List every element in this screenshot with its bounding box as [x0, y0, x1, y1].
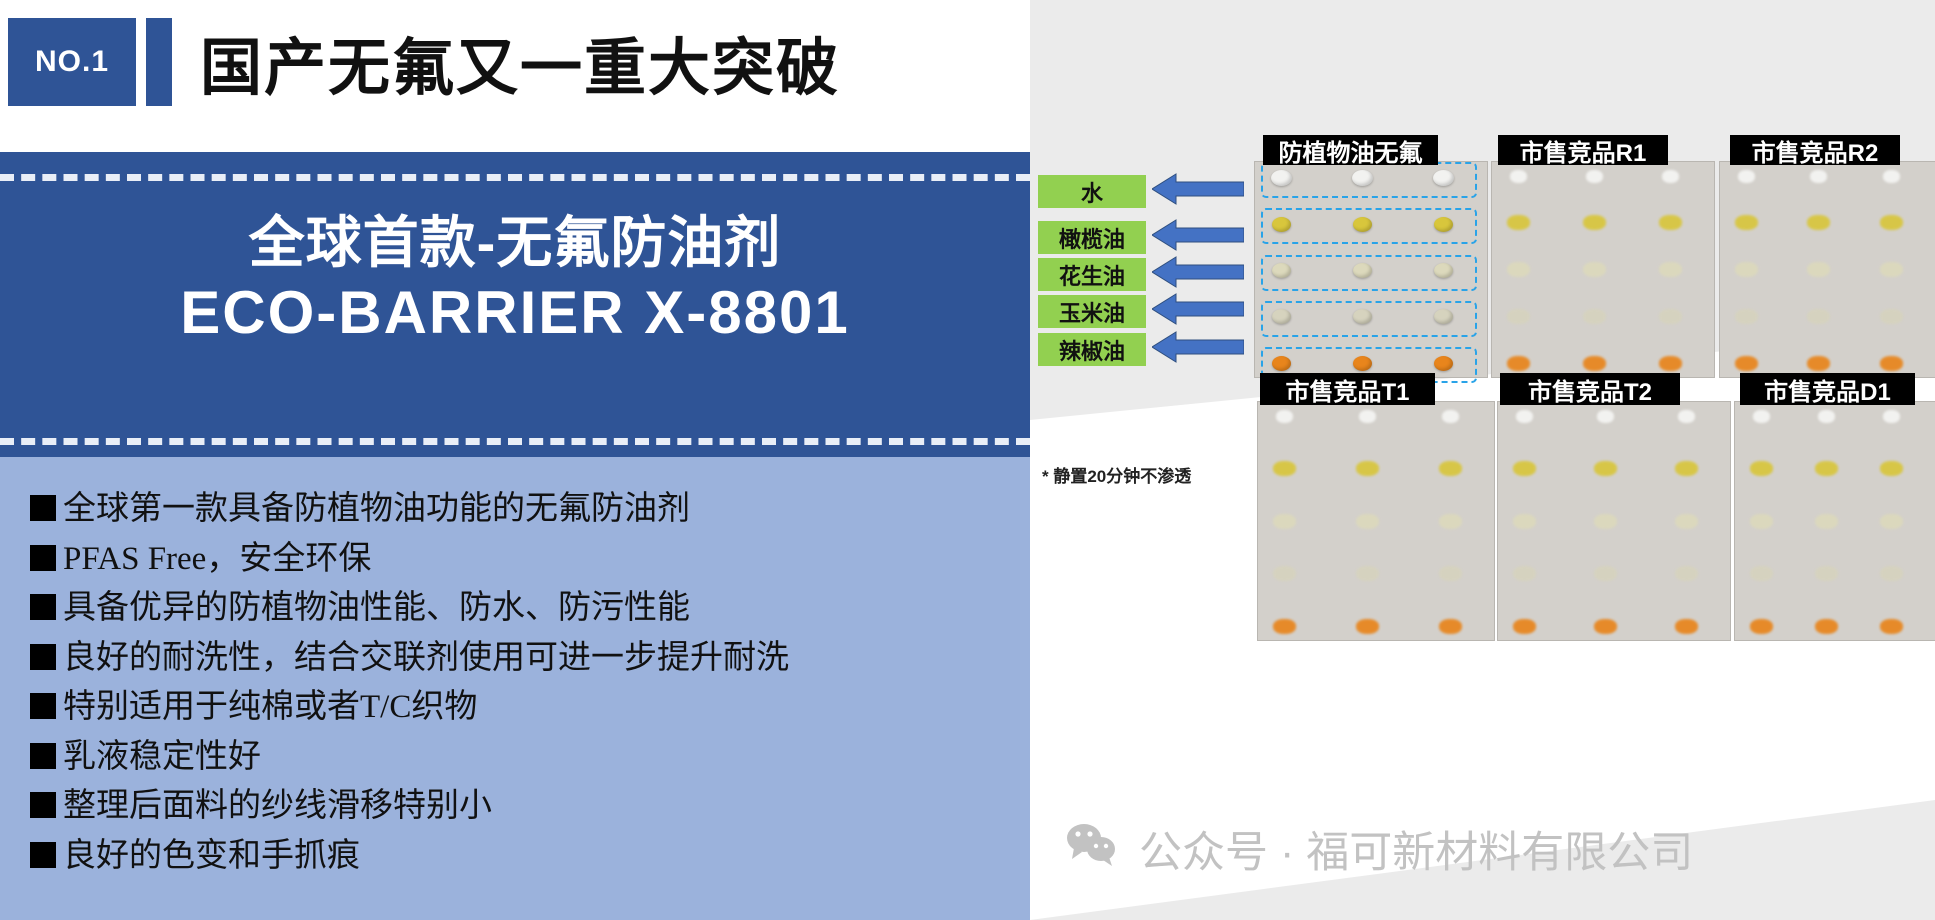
- droplet-swatch: [1883, 410, 1900, 423]
- feature-item: 良好的色变和手抓痕: [30, 834, 1030, 879]
- board-d1: [1735, 402, 1935, 640]
- droplet-swatch: [1880, 461, 1903, 476]
- feature-item-label: 整理后面料的纱线滑移特别小: [63, 784, 492, 829]
- watermark: 公众号 · 福可新材料有限公司: [1065, 818, 1693, 880]
- bullet-square-icon: [30, 644, 56, 670]
- droplet-swatch: [1807, 309, 1830, 324]
- board-d1-title: 市售竞品D1: [1740, 373, 1915, 405]
- feature-item: 良好的耐洗性，结合交联剂使用可进一步提升耐洗: [30, 636, 1030, 681]
- wechat-icon: [1065, 821, 1121, 878]
- feature-item-label: 良好的色变和手抓痕: [63, 834, 360, 879]
- droplet-swatch: [1586, 170, 1603, 183]
- feature-item-label: 特别适用于纯棉或者T/C织物: [63, 685, 477, 730]
- droplet-swatch: [1807, 215, 1830, 230]
- bullet-square-icon: [30, 693, 56, 719]
- droplet-swatch: [1750, 619, 1773, 634]
- feature-item: 乳液稳定性好: [30, 735, 1030, 780]
- droplet-swatch: [1594, 619, 1617, 634]
- droplet-swatch: [1594, 566, 1617, 581]
- left-arrow-icon: [1152, 292, 1244, 331]
- droplet-swatch: [1738, 170, 1755, 183]
- droplet-swatch: [1583, 356, 1606, 371]
- droplet-swatch: [1807, 262, 1830, 277]
- legend-chip: 水: [1038, 175, 1146, 208]
- droplet-swatch: [1513, 514, 1536, 529]
- feature-item-label: PFAS Free，安全环保: [63, 537, 371, 582]
- droplet-swatch: [1735, 215, 1758, 230]
- banner-text: 全球首款-无氟防油剂 ECO-BARRIER X-8801: [0, 210, 1030, 346]
- watermark-text: 公众号 · 福可新材料有限公司: [1139, 818, 1693, 880]
- slide-header: NO.1 国产无氟又一重大突破: [0, 0, 1030, 150]
- left-arrow-icon: [1152, 172, 1244, 211]
- droplet-swatch: [1516, 410, 1533, 423]
- droplet-swatch: [1513, 566, 1536, 581]
- board-r1-title: 市售竞品R1: [1498, 135, 1668, 165]
- board-main-title: 防植物油无氟: [1263, 135, 1438, 165]
- droplet-swatch: [1750, 514, 1773, 529]
- droplet-swatch: [1815, 619, 1838, 634]
- legend-chip: 玉米油: [1038, 295, 1146, 328]
- droplet-swatch: [1678, 410, 1695, 423]
- droplet-swatch: [1880, 262, 1903, 277]
- droplet-swatch: [1356, 461, 1379, 476]
- feature-item: PFAS Free，安全环保: [30, 537, 1030, 582]
- bullet-square-icon: [30, 594, 56, 620]
- droplet-swatch: [1510, 170, 1527, 183]
- droplet-swatch: [1659, 309, 1682, 324]
- bullet-square-icon: [30, 545, 56, 571]
- droplet-swatch: [1880, 215, 1903, 230]
- droplet-swatch: [1507, 215, 1530, 230]
- slide-root: NO.1 国产无氟又一重大突破 全球首款-无氟防油剂 ECO-BARRIER X…: [0, 0, 1935, 920]
- droplet-swatch: [1750, 566, 1773, 581]
- badge-accent-bar: [146, 18, 172, 106]
- droplet-swatch: [1815, 514, 1838, 529]
- left-panel: NO.1 国产无氟又一重大突破 全球首款-无氟防油剂 ECO-BARRIER X…: [0, 0, 1030, 920]
- board-r1: [1492, 162, 1714, 377]
- legend-row-3: 玉米油: [1038, 292, 1244, 331]
- droplet-swatch: [1662, 170, 1679, 183]
- feature-item: 全球第一款具备防植物油功能的无氟防油剂: [30, 487, 1030, 532]
- board-main: [1255, 162, 1487, 377]
- droplet-swatch: [1735, 356, 1758, 371]
- legend-row-2: 花生油: [1038, 255, 1244, 294]
- droplet-swatch: [1810, 170, 1827, 183]
- droplet-swatch: [1273, 461, 1296, 476]
- repellency-highlight-box: [1261, 255, 1477, 291]
- droplet-swatch: [1880, 309, 1903, 324]
- feature-item: 整理后面料的纱线滑移特别小: [30, 784, 1030, 829]
- repellency-highlight-box: [1261, 208, 1477, 244]
- legend-chip: 花生油: [1038, 258, 1146, 291]
- droplet-swatch: [1883, 170, 1900, 183]
- droplet-swatch: [1507, 309, 1530, 324]
- droplet-swatch: [1659, 215, 1682, 230]
- legend-chip: 橄榄油: [1038, 221, 1146, 254]
- droplet-swatch: [1513, 461, 1536, 476]
- droplet-swatch: [1507, 262, 1530, 277]
- board-t2-title: 市售竞品T2: [1500, 373, 1680, 405]
- droplet-swatch: [1597, 410, 1614, 423]
- left-arrow-icon: [1152, 255, 1244, 294]
- droplet-swatch: [1818, 410, 1835, 423]
- droplet-swatch: [1735, 309, 1758, 324]
- droplet-swatch: [1273, 514, 1296, 529]
- droplet-swatch: [1815, 461, 1838, 476]
- droplet-swatch: [1659, 356, 1682, 371]
- bullet-square-icon: [30, 792, 56, 818]
- droplet-swatch: [1735, 262, 1758, 277]
- droplet-swatch: [1675, 514, 1698, 529]
- droplet-swatch: [1356, 619, 1379, 634]
- liquid-legend: 水橄榄油花生油玉米油辣椒油: [1030, 0, 1280, 460]
- board-t1-title: 市售竞品T1: [1260, 373, 1435, 405]
- droplet-swatch: [1753, 410, 1770, 423]
- droplet-swatch: [1356, 514, 1379, 529]
- banner-headline-cn: 全球首款-无氟防油剂: [0, 210, 1030, 276]
- droplet-swatch: [1273, 566, 1296, 581]
- droplet-swatch: [1594, 461, 1617, 476]
- droplet-swatch: [1807, 356, 1830, 371]
- board-r2-title: 市售竞品R2: [1730, 135, 1900, 165]
- droplet-swatch: [1359, 410, 1376, 423]
- droplet-swatch: [1659, 262, 1682, 277]
- droplet-swatch: [1583, 262, 1606, 277]
- feature-item-label: 具备优异的防植物油性能、防水、防污性能: [63, 586, 690, 631]
- legend-chip: 辣椒油: [1038, 333, 1146, 366]
- legend-row-0: 水: [1038, 172, 1244, 211]
- bullet-square-icon: [30, 495, 56, 521]
- feature-list: 全球第一款具备防植物油功能的无氟防油剂 PFAS Free，安全环保具备优异的防…: [0, 457, 1030, 920]
- feature-item: 特别适用于纯棉或者T/C织物: [30, 685, 1030, 730]
- banner-headline-en: ECO-BARRIER X-8801: [0, 280, 1030, 346]
- droplet-swatch: [1439, 619, 1462, 634]
- test-footnote: * 静置20分钟不渗透: [1042, 462, 1272, 487]
- board-t2: [1498, 402, 1730, 640]
- banner-dashed-top: [0, 174, 1030, 181]
- droplet-swatch: [1276, 410, 1293, 423]
- bullet-square-icon: [30, 743, 56, 769]
- page-title: 国产无氟又一重大突破: [200, 18, 840, 106]
- no1-badge: NO.1: [8, 18, 136, 106]
- droplet-swatch: [1439, 514, 1462, 529]
- droplet-swatch: [1442, 410, 1459, 423]
- droplet-swatch: [1675, 461, 1698, 476]
- droplet-swatch: [1507, 356, 1530, 371]
- droplet-swatch: [1356, 566, 1379, 581]
- droplet-swatch: [1513, 619, 1536, 634]
- droplet-swatch: [1439, 461, 1462, 476]
- feature-item: 具备优异的防植物油性能、防水、防污性能: [30, 586, 1030, 631]
- left-arrow-icon: [1152, 330, 1244, 369]
- legend-row-1: 橄榄油: [1038, 218, 1244, 257]
- bullet-square-icon: [30, 842, 56, 868]
- droplet-swatch: [1815, 566, 1838, 581]
- right-panel: 水橄榄油花生油玉米油辣椒油 * 静置20分钟不渗透 防植物油无氟市售竞品R1市售…: [1030, 0, 1935, 920]
- droplet-swatch: [1583, 309, 1606, 324]
- board-r2: [1720, 162, 1935, 377]
- repellency-highlight-box: [1261, 301, 1477, 337]
- product-banner: 全球首款-无氟防油剂 ECO-BARRIER X-8801: [0, 152, 1030, 457]
- droplet-swatch: [1675, 619, 1698, 634]
- droplet-swatch: [1273, 619, 1296, 634]
- droplet-swatch: [1675, 566, 1698, 581]
- legend-row-4: 辣椒油: [1038, 330, 1244, 369]
- droplet-swatch: [1439, 566, 1462, 581]
- feature-item-label: 良好的耐洗性，结合交联剂使用可进一步提升耐洗: [63, 636, 789, 681]
- board-t1: [1258, 402, 1494, 640]
- droplet-swatch: [1880, 566, 1903, 581]
- droplet-swatch: [1594, 514, 1617, 529]
- droplet-swatch: [1880, 356, 1903, 371]
- banner-dashed-bottom: [0, 438, 1030, 445]
- feature-item-label: 乳液稳定性好: [63, 735, 261, 780]
- droplet-swatch: [1880, 514, 1903, 529]
- feature-item-label: 全球第一款具备防植物油功能的无氟防油剂: [63, 487, 690, 532]
- droplet-swatch: [1880, 619, 1903, 634]
- droplet-swatch: [1750, 461, 1773, 476]
- droplet-swatch: [1583, 215, 1606, 230]
- left-arrow-icon: [1152, 218, 1244, 257]
